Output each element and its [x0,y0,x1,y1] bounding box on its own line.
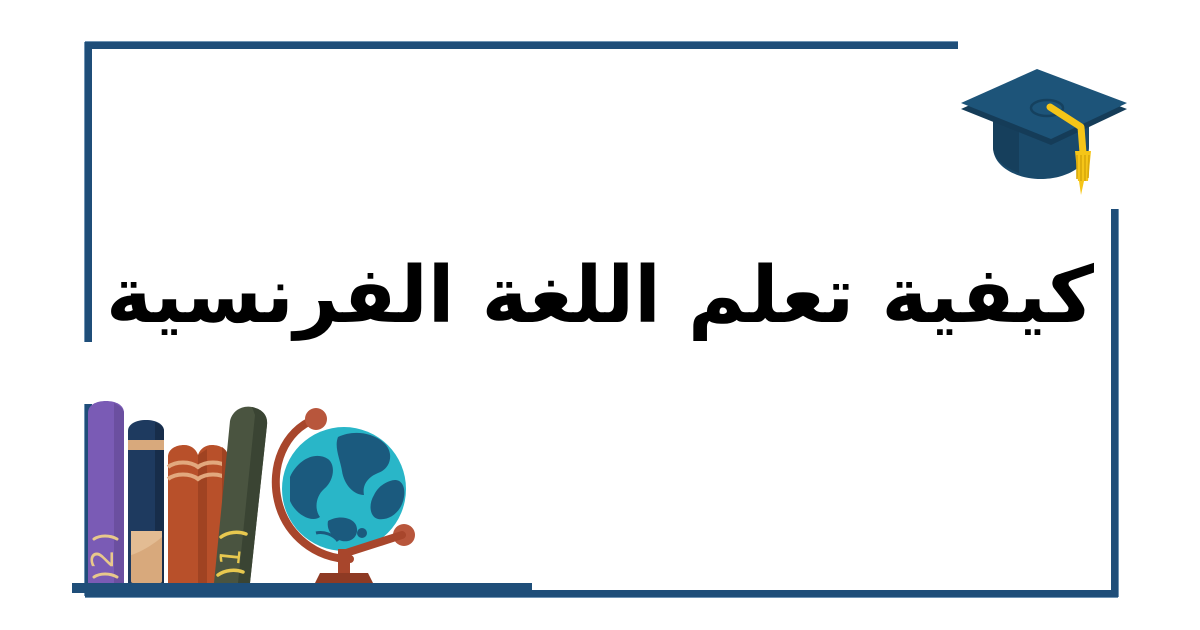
book-green-number: 1 [213,546,248,567]
book-navy-band [128,440,164,450]
frame-border-top [85,42,958,49]
shelf-bar [72,583,532,593]
books-and-globe-illustration: 2 [72,385,532,595]
cap-board-top [961,69,1127,139]
book-purple: 2 [86,401,124,583]
globe-pivot-top [305,408,327,430]
globe-island [357,528,367,538]
book-purple-number: 2 [86,549,121,568]
title-container: كيفية تعلم اللغة الفرنسية [0,232,1200,362]
tassel-tail [1079,181,1084,195]
frame-border-right [1111,209,1118,597]
globe-icon [276,408,415,585]
graduation-cap-icon [955,55,1135,200]
poster-canvas: كيفية تعلم اللغة الفرنسية [0,0,1200,630]
book-navy [128,420,164,583]
globe-stem [338,549,350,573]
page-title: كيفية تعلم اللغة الفرنسية [106,248,1094,346]
frame-border-left-upper [85,42,92,342]
